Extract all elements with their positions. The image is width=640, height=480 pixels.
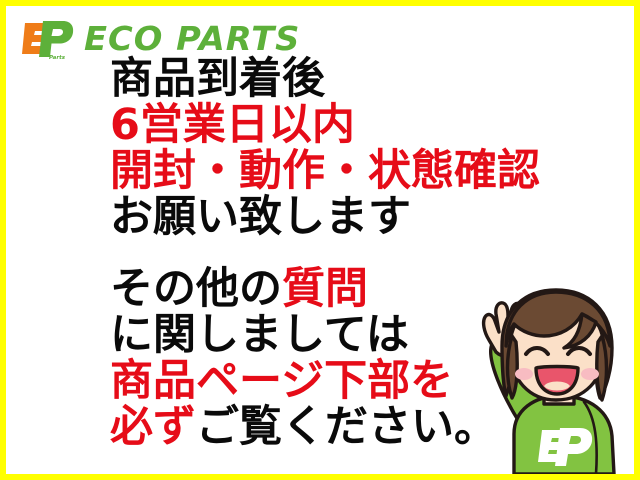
notice-banner: Eco Parts ECO PARTS 商品到着後 6営業日以内 開封・動作・状… — [0, 0, 640, 480]
notice-message-bottom: その他の質問 に関しましては 商品ページ下部を 必ずご覧ください。 — [110, 268, 497, 451]
notice-line-7: 商品ページ下部を — [110, 360, 497, 404]
notice-line-4-text: お願い致します — [110, 192, 411, 242]
notice-line-1-text: 商品到着後 — [110, 54, 325, 104]
notice-line-1: 商品到着後 — [110, 58, 540, 102]
notice-line-8: 必ずご覧ください。 — [110, 406, 497, 450]
waving-girl-illustration — [456, 284, 632, 474]
notice-line-5-text-b: 質問 — [282, 264, 368, 314]
notice-line-6: に関しましては — [110, 314, 497, 358]
notice-line-4: お願い致します — [110, 196, 540, 240]
eco-parts-logo-icon: Eco Parts — [20, 16, 76, 60]
notice-line-2-text: 6営業日以内 — [110, 100, 355, 150]
notice-line-2: 6営業日以内 — [110, 104, 540, 148]
notice-message-top: 商品到着後 6営業日以内 開封・動作・状態確認 お願い致します — [110, 58, 540, 241]
notice-line-5-text-a: その他の — [110, 264, 282, 314]
notice-line-5: その他の質問 — [110, 268, 497, 312]
notice-line-8-text-b: ご覧ください。 — [196, 402, 497, 452]
brand-wordmark: ECO PARTS — [84, 22, 300, 55]
notice-line-3-text: 開封・動作・状態確認 — [110, 146, 540, 196]
svg-text:Eco: Eco — [26, 48, 37, 54]
notice-line-7-text: 商品ページ下部を — [110, 356, 453, 406]
notice-line-6-text: に関しましては — [110, 310, 409, 360]
svg-text:Parts: Parts — [49, 55, 66, 60]
notice-line-3: 開封・動作・状態確認 — [110, 150, 540, 194]
notice-line-8-text-a: 必ず — [110, 402, 196, 452]
